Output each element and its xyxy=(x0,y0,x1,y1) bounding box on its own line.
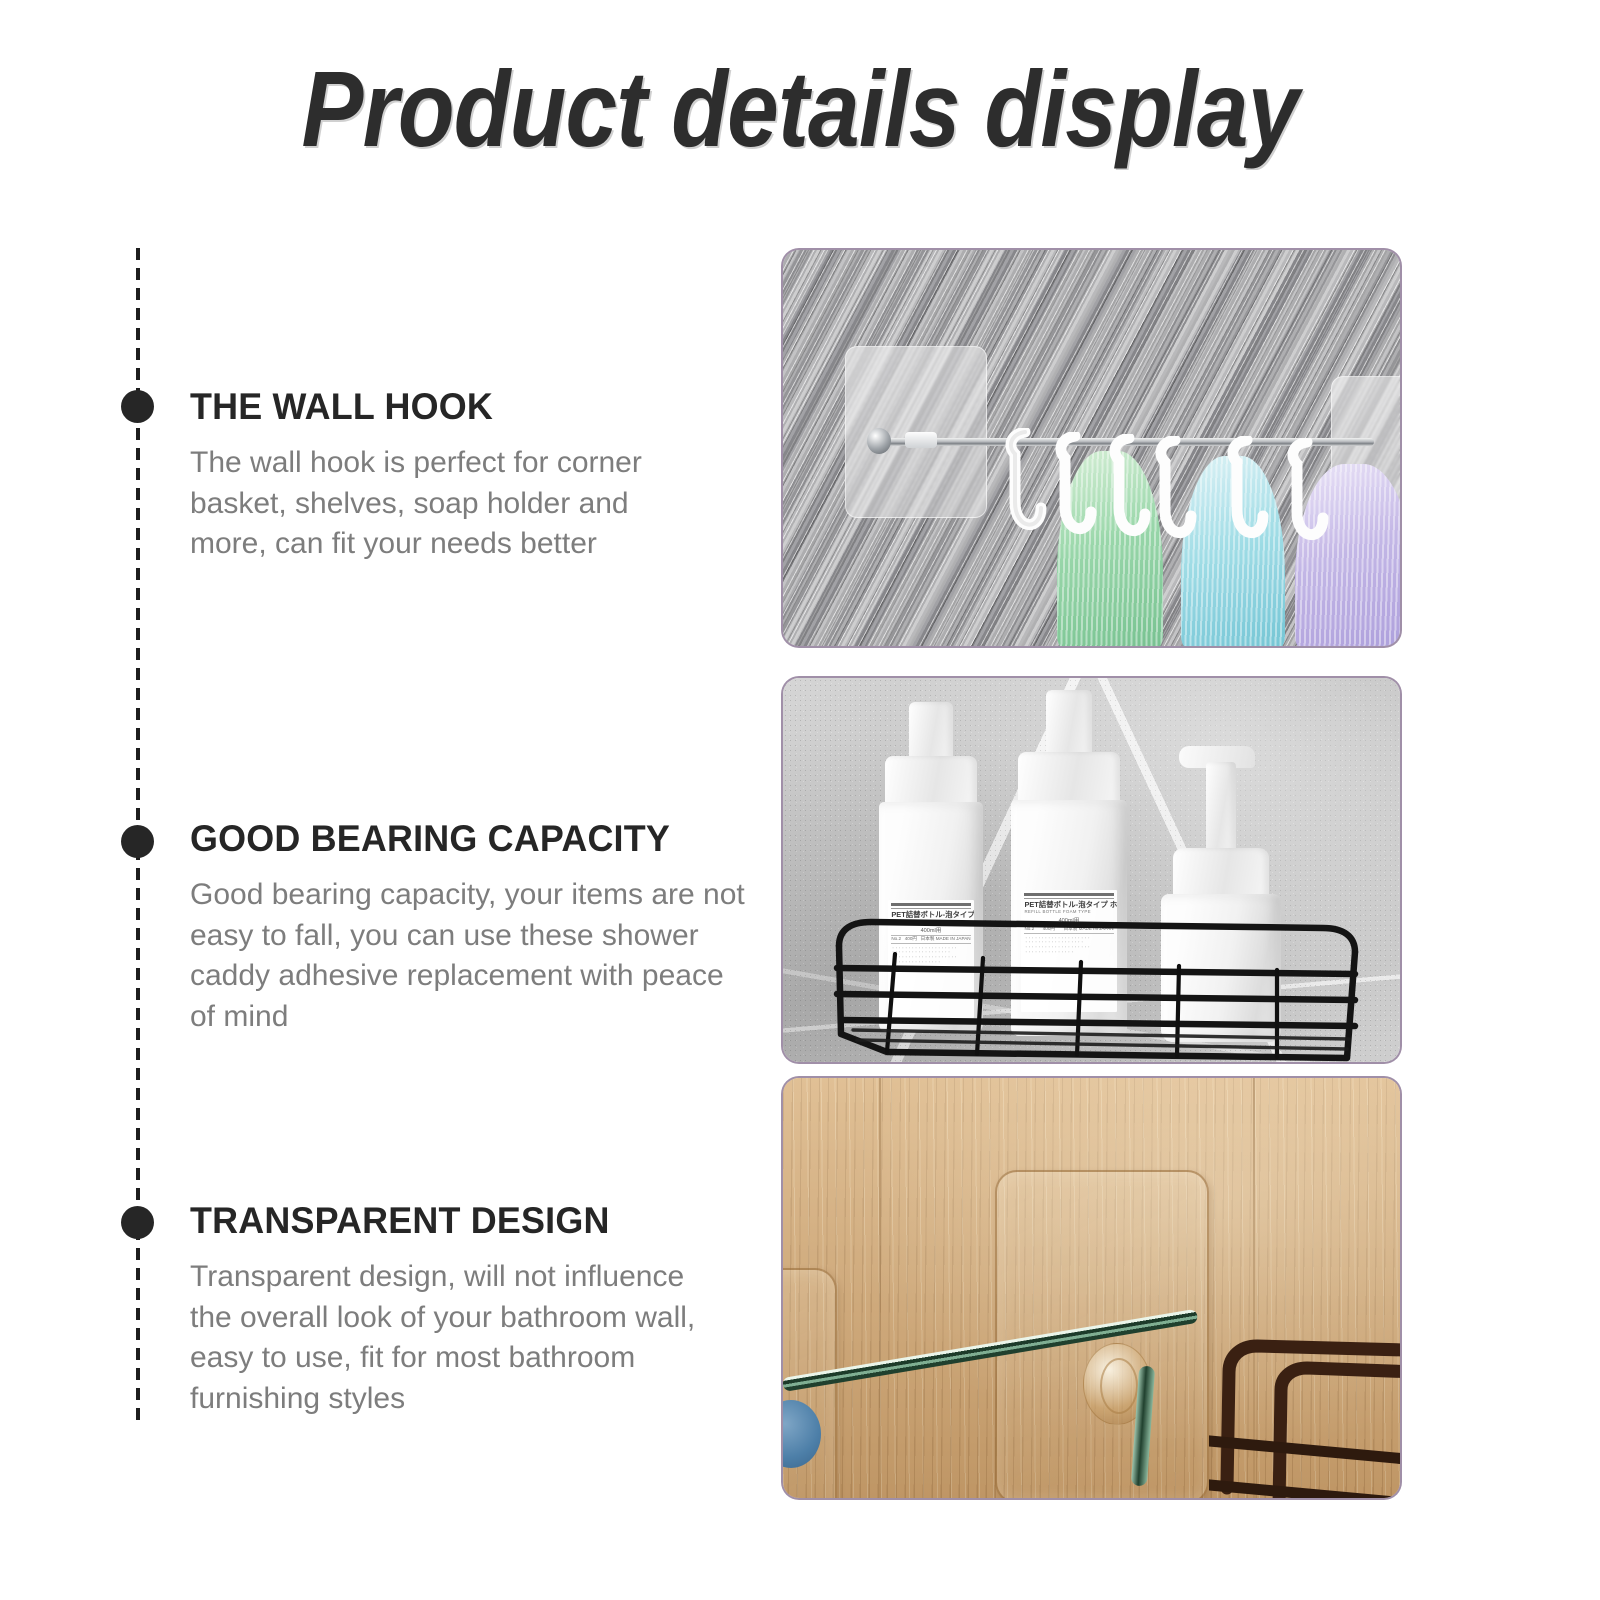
timeline-bullet-1 xyxy=(122,391,153,422)
label-jp-text: PET詰替ボトル-泡タイプ ホワイト xyxy=(1024,901,1113,909)
label-bar xyxy=(891,908,970,910)
s-hook-icon xyxy=(1223,436,1269,566)
label-bar xyxy=(1024,898,1113,900)
s-hook-icon xyxy=(1001,428,1047,558)
s-hook-icon xyxy=(1151,436,1197,566)
feature-block-wall-hook: THE WALL HOOK The wall hook is perfect f… xyxy=(190,388,710,565)
shower-caddy-photo: PET詰替ボトル-泡タイプ ホワイト REFILL BOTTLE FOAM TY… xyxy=(783,678,1400,1062)
timeline-bullet-2 xyxy=(122,826,153,857)
feature-heading: THE WALL HOOK xyxy=(190,388,694,427)
transparent-mount-photo xyxy=(783,1078,1400,1498)
rod-collar xyxy=(905,432,937,448)
feature-body: Transparent design, will not influence t… xyxy=(190,1257,720,1420)
feature-block-transparent-design: TRANSPARENT DESIGN Transparent design, w… xyxy=(190,1202,720,1420)
page-title: Product details display xyxy=(112,46,1488,171)
feature-block-bearing-capacity: GOOD BEARING CAPACITY Good bearing capac… xyxy=(190,820,750,1038)
wall-hook-photo xyxy=(783,250,1400,646)
wire-rack xyxy=(1209,1328,1400,1498)
wood-plank-seam xyxy=(879,1078,881,1498)
feature-heading: TRANSPARENT DESIGN xyxy=(190,1202,704,1241)
s-hook-icon xyxy=(1105,434,1151,564)
label-bar xyxy=(1024,893,1113,896)
label-bar xyxy=(891,903,970,906)
feature-body: Good bearing capacity, your items are no… xyxy=(190,875,750,1038)
feature-heading: GOOD BEARING CAPACITY xyxy=(190,820,733,859)
pump-stem xyxy=(1206,762,1236,858)
timeline-bullet-3 xyxy=(122,1207,153,1238)
rod-end-cap xyxy=(867,428,891,454)
feature-body: The wall hook is perfect for corner bask… xyxy=(190,443,710,565)
s-hook-icon xyxy=(1283,438,1329,568)
wire-caddy-shelf xyxy=(827,910,1367,1062)
s-hook-icon xyxy=(1051,432,1097,562)
